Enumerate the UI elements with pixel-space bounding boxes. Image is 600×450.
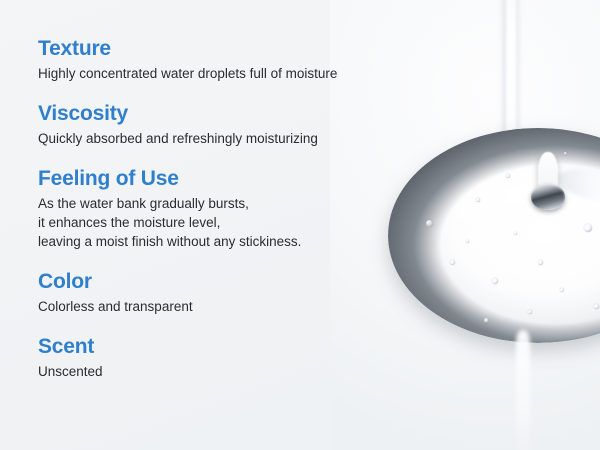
section-body: Quickly absorbed and refreshingly moistu… xyxy=(38,129,408,148)
section-scent: Scent Unscented xyxy=(38,334,408,381)
body-line: Colorless and transparent xyxy=(38,297,408,316)
section-feeling-of-use: Feeling of Use As the water bank gradual… xyxy=(38,166,408,251)
section-heading: Feeling of Use xyxy=(38,166,408,192)
body-line: Quickly absorbed and refreshingly moistu… xyxy=(38,129,408,148)
liquid-stream-bottom xyxy=(516,330,530,450)
body-line: it enhances the moisture level, xyxy=(38,213,408,232)
section-heading: Viscosity xyxy=(38,101,408,127)
section-viscosity: Viscosity Quickly absorbed and refreshin… xyxy=(38,101,408,148)
section-heading: Color xyxy=(38,269,408,295)
bubble-cluster xyxy=(388,128,600,343)
body-line: leaving a moist finish without any stick… xyxy=(38,232,408,251)
section-heading: Scent xyxy=(38,334,408,360)
section-color: Color Colorless and transparent xyxy=(38,269,408,316)
section-body: As the water bank gradually bursts, it e… xyxy=(38,194,408,251)
section-body: Unscented xyxy=(38,362,408,381)
body-line: As the water bank gradually bursts, xyxy=(38,194,408,213)
body-line: Highly concentrated water droplets full … xyxy=(38,64,408,83)
description-list: Texture Highly concentrated water drople… xyxy=(38,36,408,381)
liquid-pool xyxy=(388,128,600,343)
body-line: Unscented xyxy=(38,362,408,381)
product-description-panel: Texture Highly concentrated water drople… xyxy=(0,0,600,450)
section-body: Colorless and transparent xyxy=(38,297,408,316)
section-body: Highly concentrated water droplets full … xyxy=(38,64,408,83)
section-heading: Texture xyxy=(38,36,408,62)
section-texture: Texture Highly concentrated water drople… xyxy=(38,36,408,83)
